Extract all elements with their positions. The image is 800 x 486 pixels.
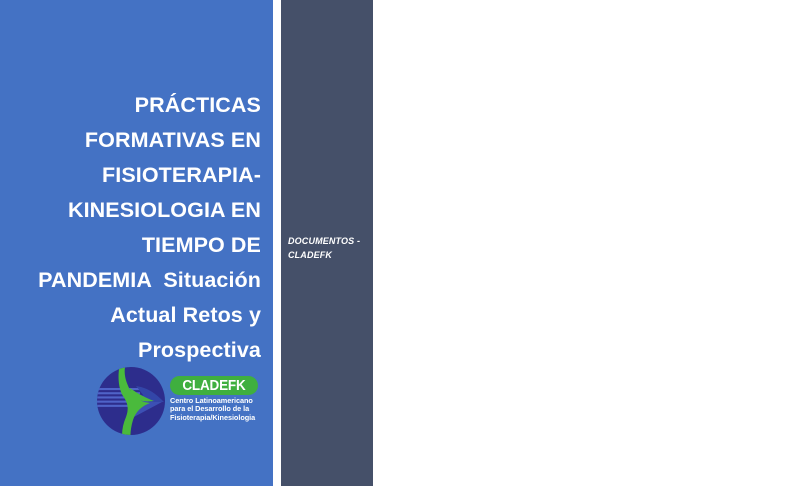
title-line-3: FISIOTERAPIA-: [0, 158, 261, 193]
logo-acronym-label: CLADEFK: [182, 378, 245, 394]
title-line-6: PANDEMIA Situación: [0, 263, 261, 298]
page-title: PRÁCTICAS FORMATIVAS EN FISIOTERAPIA- KI…: [0, 88, 261, 368]
logo-acronym-badge: CLADEFK: [170, 376, 258, 395]
logo-wordmark: CLADEFK Centro Latinoamericano para el D…: [170, 376, 262, 422]
logo-subtitle-line-3: Fisioterapia/Kinesiologia: [170, 414, 262, 422]
series-label-line-2: CLADEFK: [288, 248, 368, 262]
title-line-7: Actual Retos y: [0, 298, 261, 333]
spine-circle-logo-icon: [96, 358, 166, 444]
title-line-2: FORMATIVAS EN: [0, 123, 261, 158]
title-line-5: TIEMPO DE: [0, 228, 261, 263]
series-label: DOCUMENTOS - CLADEFK: [288, 234, 368, 262]
title-line-4: KINESIOLOGIA EN: [0, 193, 261, 228]
cover-page: PRÁCTICAS FORMATIVAS EN FISIOTERAPIA- KI…: [0, 0, 800, 486]
logo-subtitle: Centro Latinoamericano para el Desarroll…: [170, 397, 262, 422]
title-panel: PRÁCTICAS FORMATIVAS EN FISIOTERAPIA- KI…: [0, 0, 273, 486]
title-line-1: PRÁCTICAS: [0, 88, 261, 123]
series-panel: DOCUMENTOS - CLADEFK: [281, 0, 373, 486]
cladefk-logo: CLADEFK Centro Latinoamericano para el D…: [96, 356, 262, 444]
series-label-line-1: DOCUMENTOS -: [288, 234, 368, 248]
